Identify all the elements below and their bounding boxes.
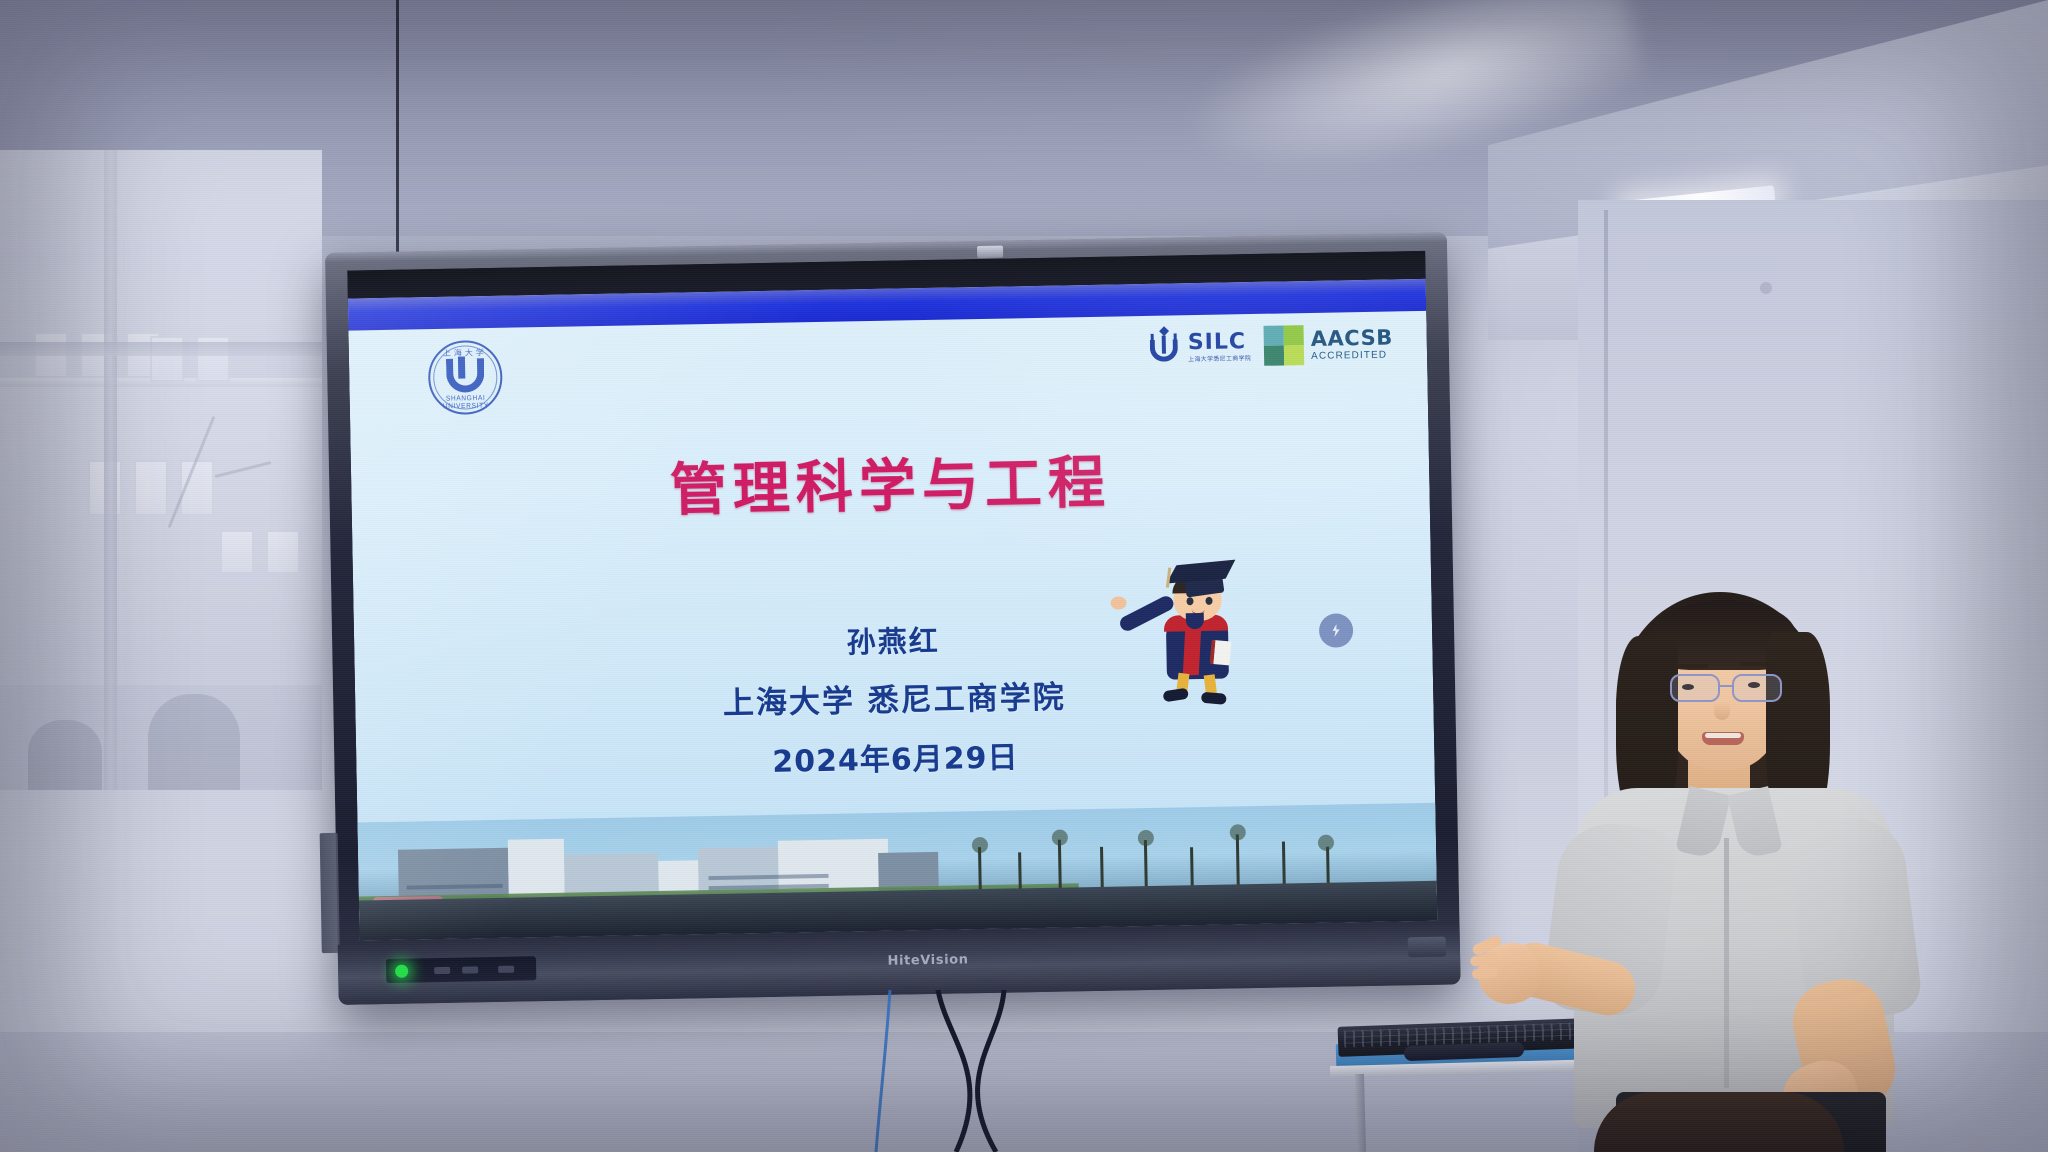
classroom-scene: 上海大学 SHANGHAI UNIVERSITY xyxy=(0,0,2048,1152)
silc-logo: SILC 上海大学悉尼工商学院 xyxy=(1147,326,1252,368)
aacsb-subtitle: ACCREDITED xyxy=(1311,350,1393,361)
aacsb-grid-icon xyxy=(1264,325,1305,366)
silc-mark-icon xyxy=(1147,327,1182,368)
wall-fixture-dot-2 xyxy=(1760,282,1772,294)
shanghai-university-logo: 上海大学 SHANGHAI UNIVERSITY xyxy=(428,340,503,415)
slide-presenter-name: 孙燕红 xyxy=(354,609,1433,671)
presentation-slide: 上海大学 SHANGHAI UNIVERSITY xyxy=(348,279,1438,941)
display-brand-label: HiteVision xyxy=(858,952,998,970)
interactive-flat-panel-display[interactable]: 上海大学 SHANGHAI UNIVERSITY xyxy=(325,232,1461,1004)
silc-name: SILC xyxy=(1188,331,1251,354)
slide-logos-group: SILC 上海大学悉尼工商学院 AACSB ACCREDITED xyxy=(1147,323,1394,368)
hanging-cables xyxy=(820,990,1240,1152)
eyeglasses xyxy=(1670,674,1720,702)
slide-presenter-org: 上海大学 悉尼工商学院 xyxy=(355,665,1434,730)
campus-photo-band xyxy=(357,803,1437,941)
aacsb-name: AACSB xyxy=(1311,327,1393,349)
slide-title: 管理科学与工程 xyxy=(351,431,1430,533)
slide-presenter-date: 2024年6月29日 xyxy=(356,725,1435,789)
wall-mount-bracket xyxy=(320,833,340,953)
seated-person-silhouette xyxy=(1594,1092,1844,1152)
display-side-port xyxy=(1408,937,1446,958)
display-screen[interactable]: 上海大学 SHANGHAI UNIVERSITY xyxy=(347,251,1437,941)
aacsb-logo: AACSB ACCREDITED xyxy=(1264,323,1394,365)
ceiling-cable xyxy=(396,0,399,262)
display-camera-icon xyxy=(977,246,1003,258)
window-glare-haze xyxy=(0,150,322,790)
shu-logo-arc-text: SHANGHAI UNIVERSITY xyxy=(433,394,499,411)
silc-subtitle: 上海大学悉尼工商学院 xyxy=(1188,356,1251,363)
control-button-2[interactable] xyxy=(462,966,478,973)
control-button-3[interactable] xyxy=(498,966,514,973)
presenter xyxy=(1466,592,1966,1152)
classroom-window xyxy=(0,150,322,790)
control-button-1[interactable] xyxy=(434,967,450,974)
